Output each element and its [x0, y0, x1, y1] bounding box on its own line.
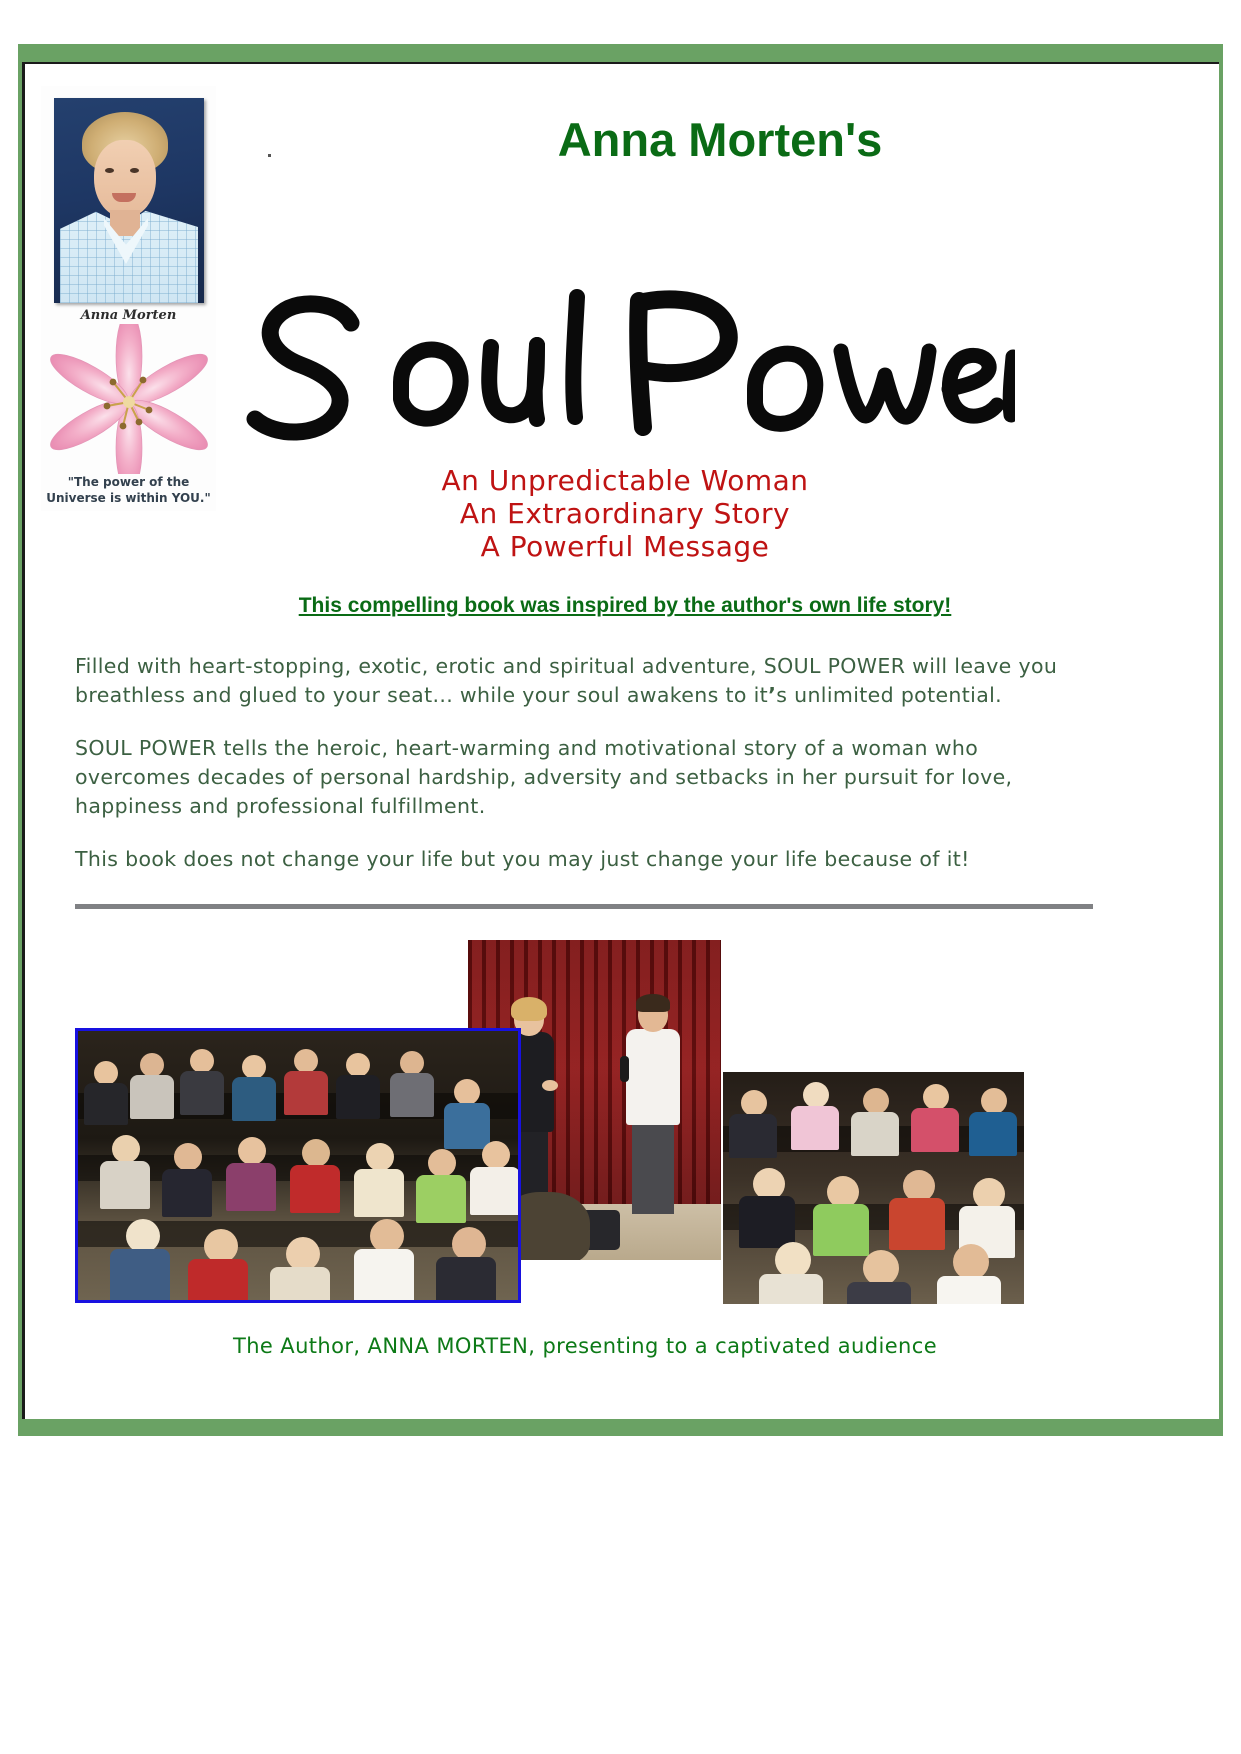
audience-photo-right — [723, 1072, 1024, 1304]
audience-photo-left — [75, 1028, 521, 1303]
photo-collage — [25, 64, 1219, 1419]
speaker-man-figure — [620, 998, 686, 1214]
microphone-icon — [620, 1056, 629, 1082]
document-sheet: Anna Morten — [22, 62, 1219, 1419]
photo-caption: The Author, ANNA MORTEN, presenting to a… — [85, 1334, 1085, 1358]
